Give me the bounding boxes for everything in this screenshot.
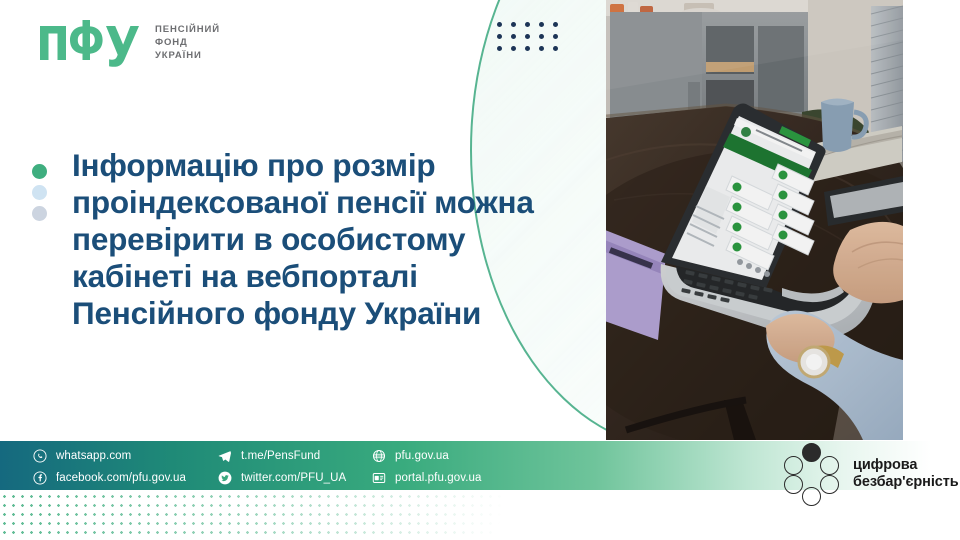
headline-text: Інформацію про розмір проіндексованої пе… — [72, 147, 592, 332]
contacts-column-1: whatsapp.com facebook.com/pfu.gov.ua — [33, 448, 186, 485]
logo-line-2: ФОНД — [155, 37, 220, 49]
contact-twitter[interactable]: twitter.com/PFU_UA — [218, 470, 346, 485]
accessibility-line-1: цифрова — [853, 457, 959, 474]
headline-block: Інформацію про розмір проіндексованої пе… — [72, 147, 592, 332]
accessibility-circles-icon — [781, 443, 843, 505]
contact-facebook[interactable]: facebook.com/pfu.gov.ua — [33, 470, 186, 485]
twitter-icon — [218, 471, 232, 485]
contact-telegram[interactable]: t.me/PensFund — [218, 448, 346, 463]
contact-label: portal.pfu.gov.ua — [395, 472, 482, 484]
decorative-dot-grid — [497, 22, 567, 58]
bullet-green-dot — [32, 164, 47, 179]
accessibility-wordmark: цифрова безбар'єрність — [853, 457, 959, 491]
slide-canvas: ПЕНСІЙНИЙ ФОНД УКРАЇНИ Інформацію про ро… — [0, 0, 960, 540]
logo-line-3: УКРАЇНИ — [155, 50, 220, 62]
footer-contacts: whatsapp.com facebook.com/pfu.gov.ua — [0, 441, 620, 490]
contact-website[interactable]: pfu.gov.ua — [372, 448, 482, 463]
pfu-logo-wordmark: ПЕНСІЙНИЙ ФОНД УКРАЇНИ — [155, 24, 220, 62]
contacts-column-3: pfu.gov.ua portal.pfu.gov.ua — [372, 448, 482, 485]
telegram-icon — [218, 449, 232, 463]
contact-label: whatsapp.com — [56, 450, 131, 462]
globe-icon — [372, 449, 386, 463]
bullet-dots — [32, 164, 47, 221]
logo-line-1: ПЕНСІЙНИЙ — [155, 24, 220, 36]
contacts-column-2: t.me/PensFund twitter.com/PFU_UA — [218, 448, 346, 485]
portal-icon — [372, 471, 386, 485]
accessibility-line-2: безбар'єрність — [853, 474, 959, 491]
contact-label: facebook.com/pfu.gov.ua — [56, 472, 186, 484]
contact-label: t.me/PensFund — [241, 450, 320, 462]
office-photo — [606, 0, 903, 440]
bullet-light-blue-dot — [32, 185, 47, 200]
contact-label: twitter.com/PFU_UA — [241, 472, 346, 484]
contact-whatsapp[interactable]: whatsapp.com — [33, 448, 186, 463]
whatsapp-icon — [33, 449, 47, 463]
bullet-gray-blue-dot — [32, 206, 47, 221]
pfu-logomark-icon — [38, 18, 146, 68]
facebook-icon — [33, 471, 47, 485]
contact-label: pfu.gov.ua — [395, 450, 449, 462]
pfu-logo: ПЕНСІЙНИЙ ФОНД УКРАЇНИ — [38, 18, 220, 68]
digital-accessibility-logo: цифрова безбар'єрність — [781, 443, 959, 505]
contact-portal[interactable]: portal.pfu.gov.ua — [372, 470, 482, 485]
